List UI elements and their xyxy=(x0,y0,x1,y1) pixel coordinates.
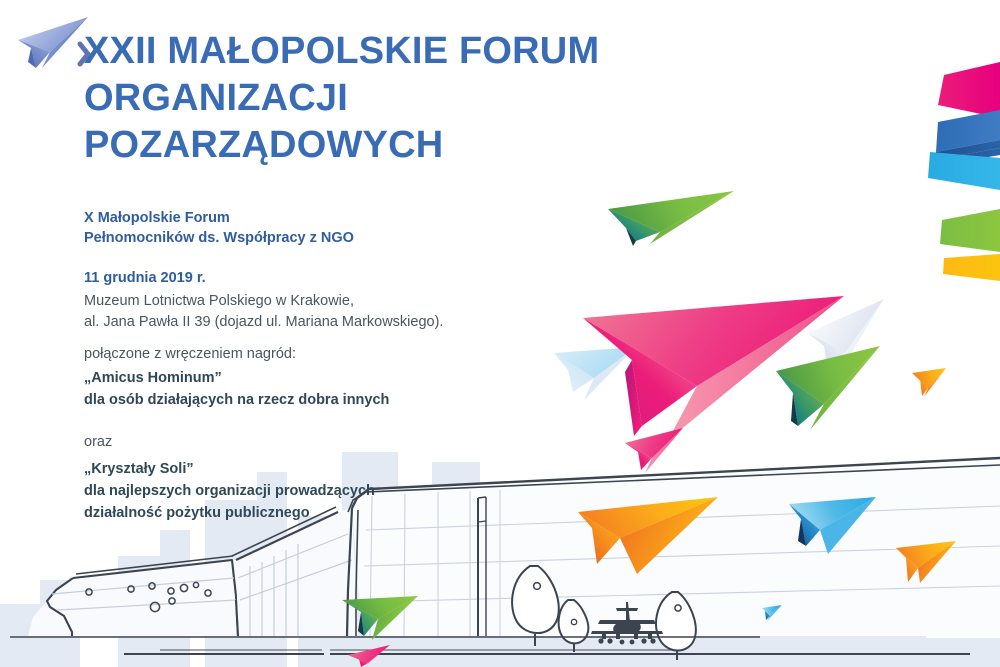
title-line-1: XXII MAŁOPOLSKIE FORUM xyxy=(84,28,704,75)
title-line-2: ORGANIZACJI xyxy=(84,75,704,122)
award-amicus-hominum-name: „Amicus Hominum” xyxy=(84,368,222,389)
poster-canvas: XXII MAŁOPOLSKIE FORUM ORGANIZACJI POZAR… xyxy=(0,0,1000,667)
awards-conjunction: oraz xyxy=(84,432,112,453)
event-venue: Muzeum Lotnictwa Polskiego w Krakowie, a… xyxy=(84,291,443,333)
venue-line-2: al. Jana Pawła II 39 (dojazd ul. Mariana… xyxy=(84,312,443,333)
award-krysztaly-soli-description: dla najlepszych organizacji prowadzących… xyxy=(84,481,375,524)
venue-line-1: Muzeum Lotnictwa Polskiego w Krakowie, xyxy=(84,291,443,312)
paper-plane-icon xyxy=(14,12,94,74)
award-krysztaly-soli-name: „Kryształy Soli” xyxy=(84,459,194,480)
award-amicus-hominum-description: dla osób działających na rzecz dobra inn… xyxy=(84,390,389,411)
award2-desc-line-1: dla najlepszych organizacji prowadzących xyxy=(84,481,375,503)
subtitle-line-2: Pełnomocników ds. Współpracy z NGO xyxy=(84,228,354,248)
page-title: XXII MAŁOPOLSKIE FORUM ORGANIZACJI POZAR… xyxy=(84,28,704,169)
subtitle: X Małopolskie Forum Pełnomocników ds. Ws… xyxy=(84,208,354,248)
poster-content: XXII MAŁOPOLSKIE FORUM ORGANIZACJI POZAR… xyxy=(0,0,1000,667)
title-line-3: POZARZĄDOWYCH xyxy=(84,122,704,169)
award2-desc-line-2: działalność pożytku publicznego xyxy=(84,503,375,525)
event-date: 11 grudnia 2019 r. xyxy=(84,268,206,288)
awards-intro: połączone z wręczeniem nagród: xyxy=(84,344,296,365)
subtitle-line-1: X Małopolskie Forum xyxy=(84,208,354,228)
